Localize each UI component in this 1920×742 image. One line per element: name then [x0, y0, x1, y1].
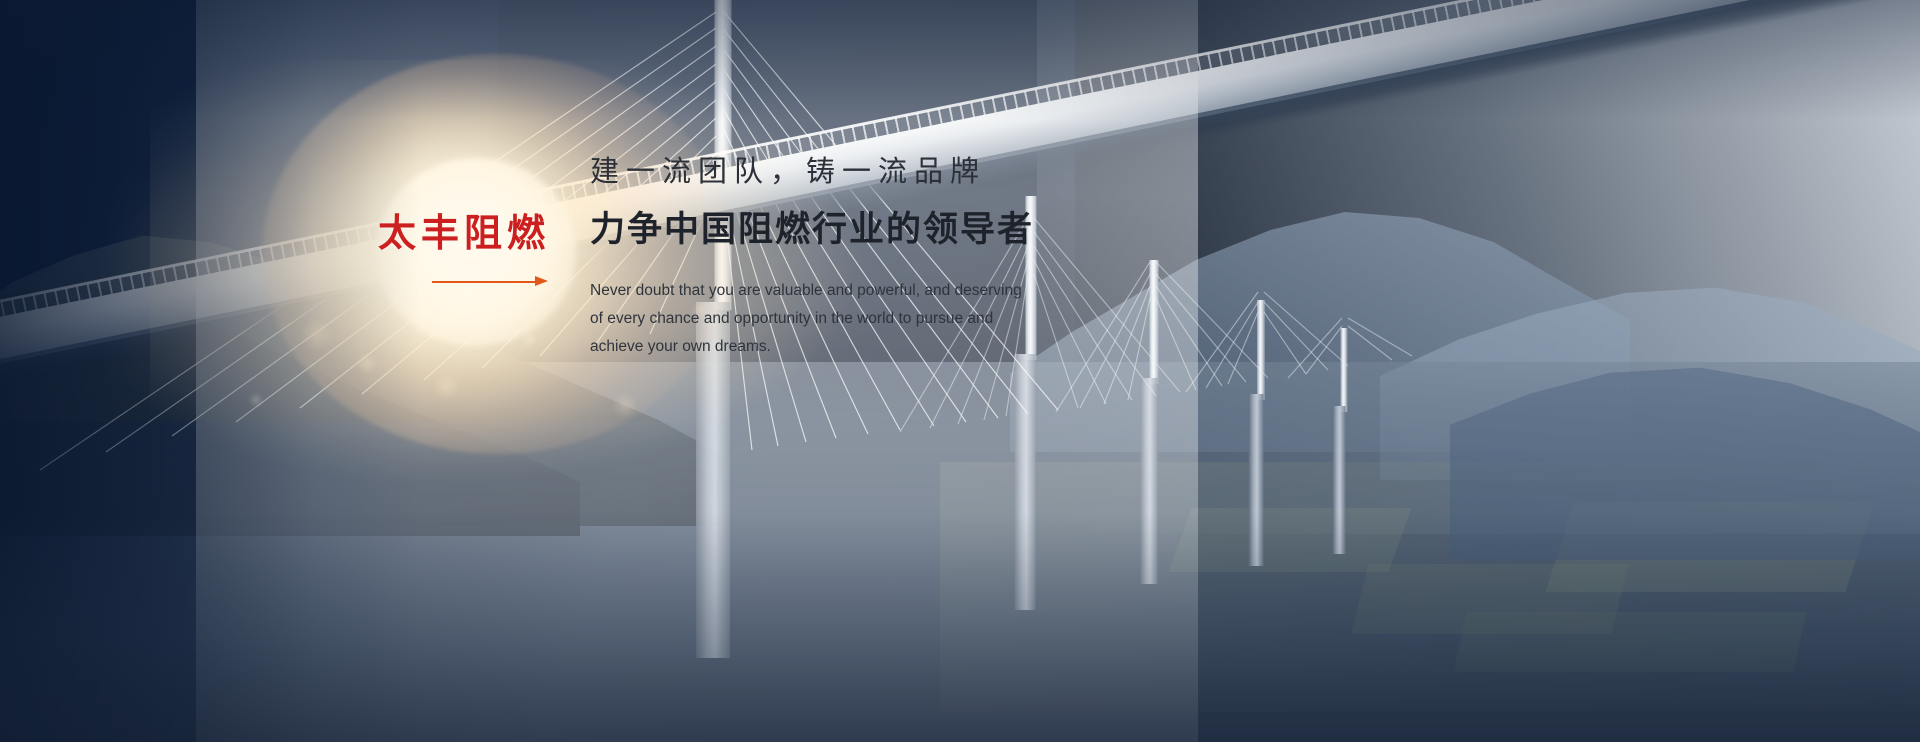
- brand-logo[interactable]: 太丰阻燃: [376, 215, 552, 289]
- arrow-head: [535, 276, 548, 286]
- arrow-shaft: [432, 281, 536, 283]
- description-line: of every chance and opportunity in the w…: [590, 305, 1042, 333]
- headline-block: 建一流团队，铸一流品牌 力争中国阻燃行业的领导者 Never doubt tha…: [590, 152, 1150, 361]
- description-line: achieve your own dreams.: [590, 333, 1042, 361]
- brand-logo-text: 太丰阻燃: [376, 215, 552, 253]
- banner-content: 太丰阻燃 建一流团队，铸一流品牌 力争中国阻燃行业的领导者 Never doub…: [0, 0, 1920, 742]
- hero-banner: 太丰阻燃 建一流团队，铸一流品牌 力争中国阻燃行业的领导者 Never doub…: [0, 0, 1920, 742]
- long-arrow-right-icon: [432, 275, 548, 289]
- headline-subtitle: 建一流团队，铸一流品牌: [590, 152, 1150, 193]
- headline-description: Never doubt that you are valuable and po…: [590, 277, 1042, 362]
- description-line: Never doubt that you are valuable and po…: [590, 277, 1042, 305]
- headline-title: 力争中国阻燃行业的领导者: [590, 207, 1150, 253]
